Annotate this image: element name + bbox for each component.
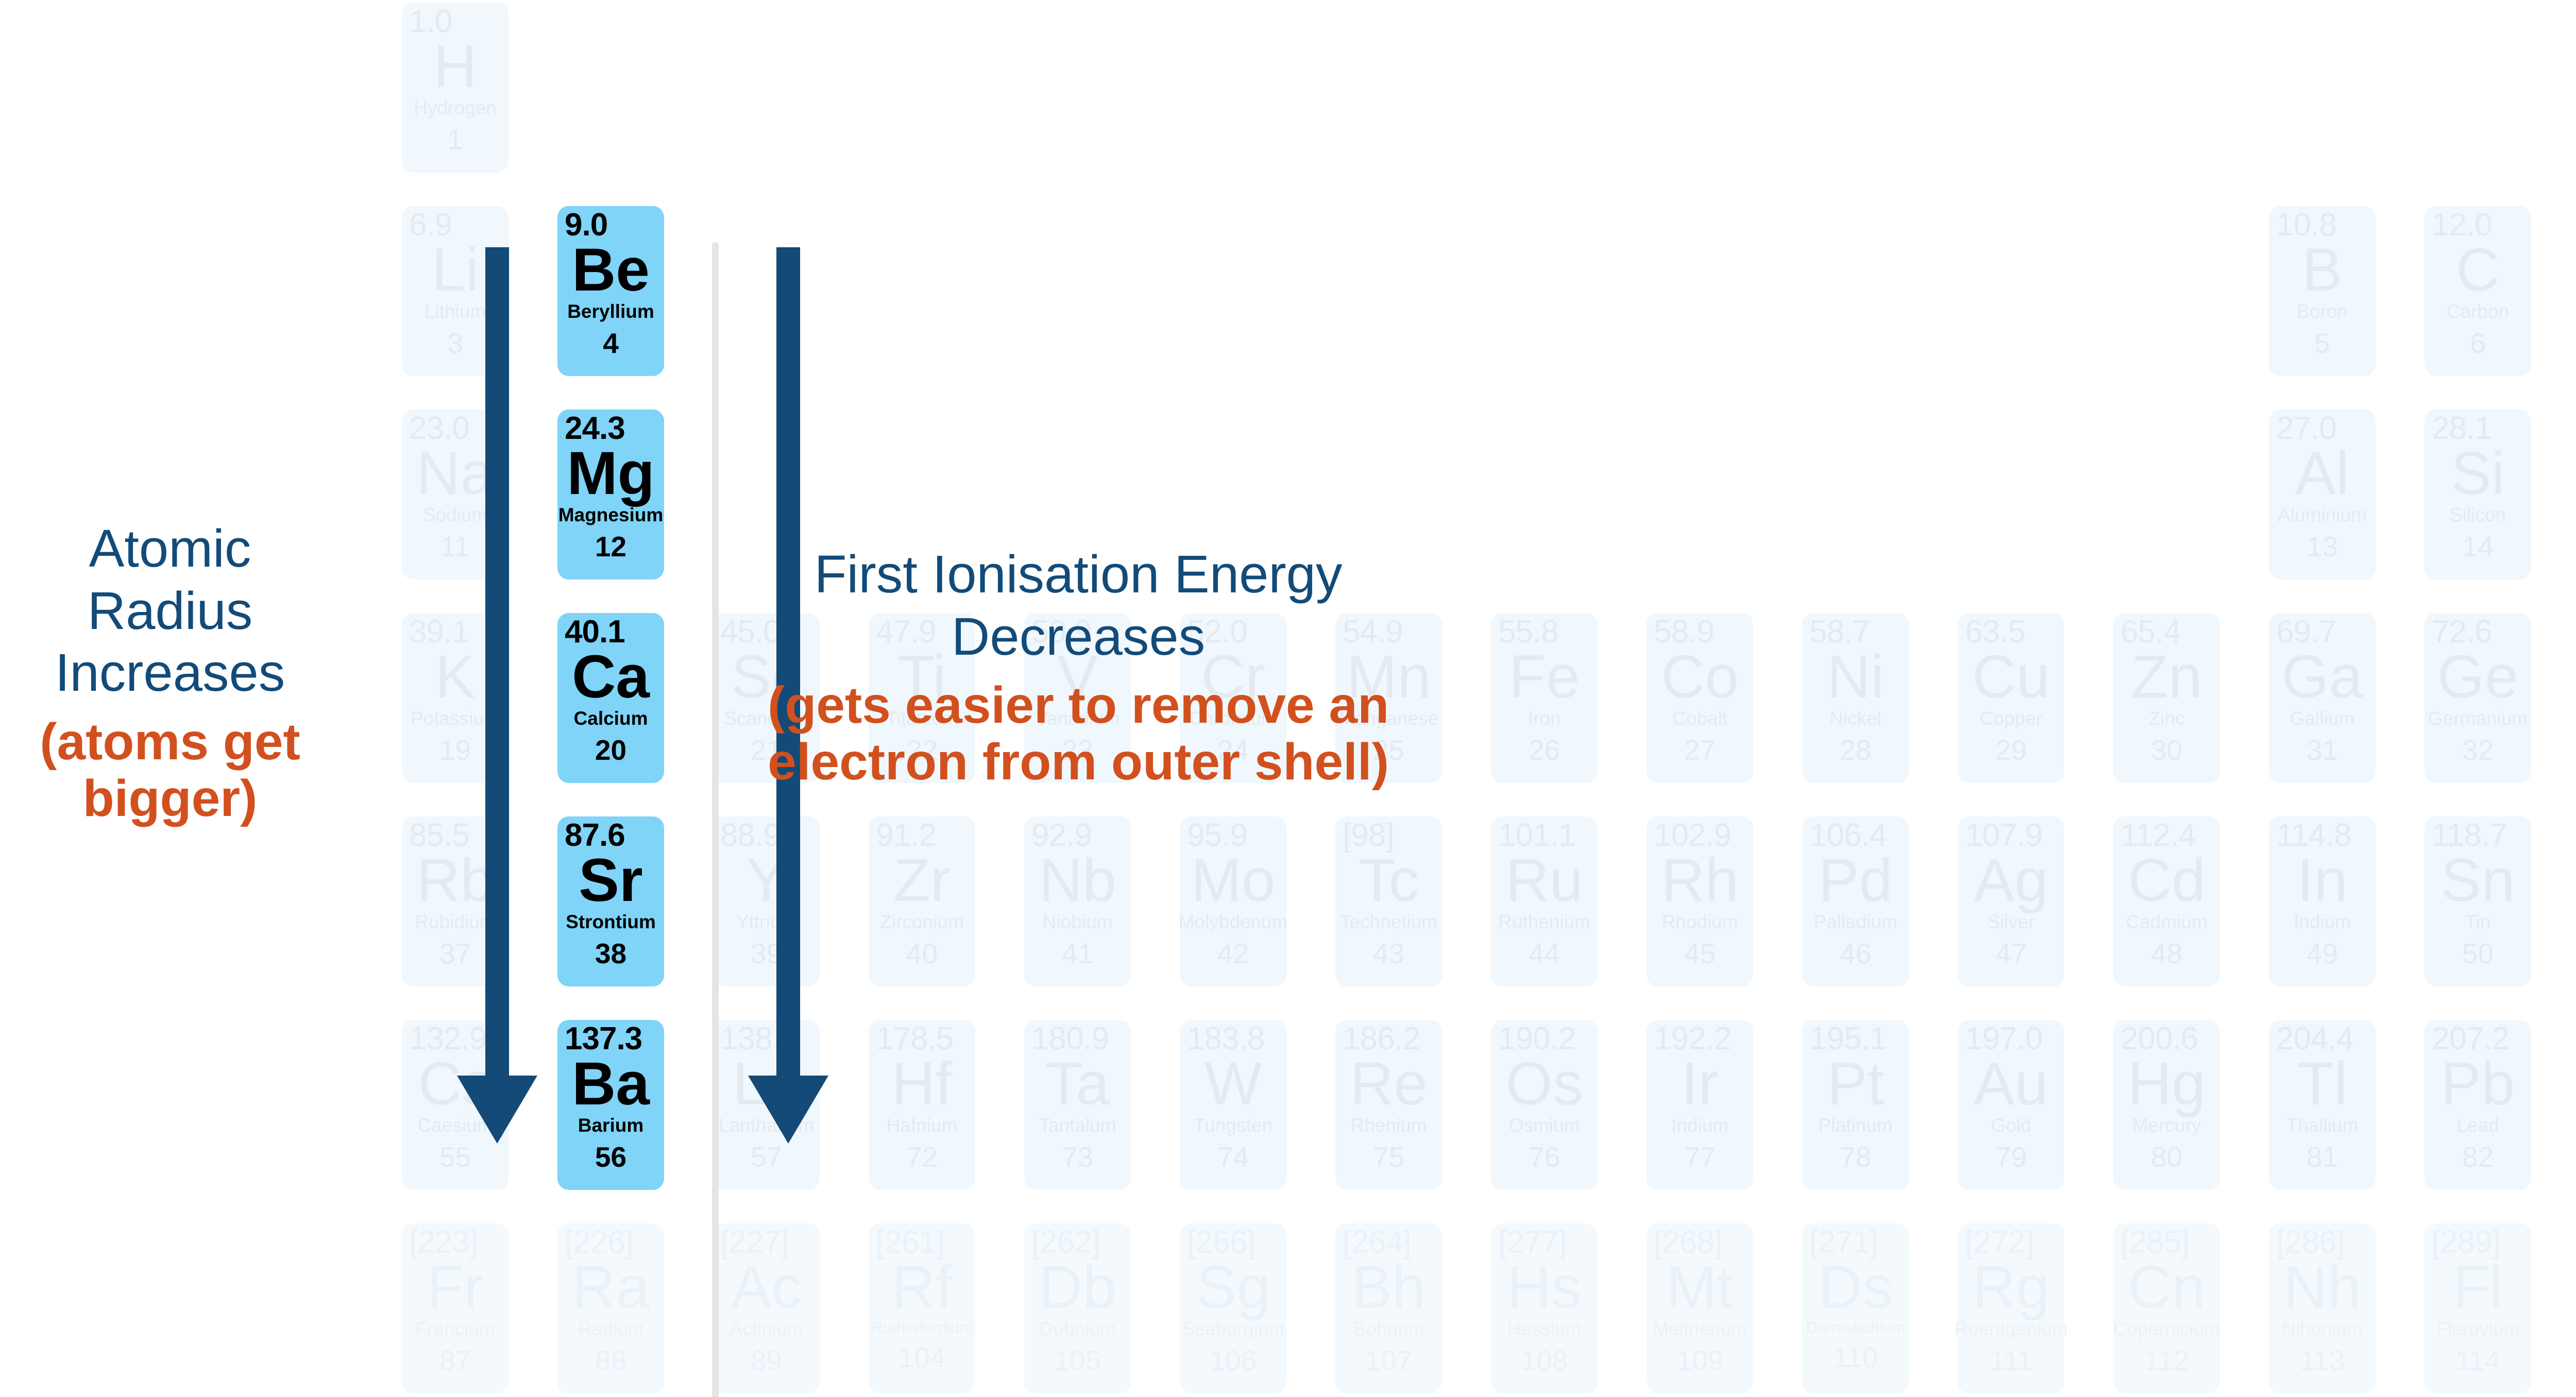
element-name: Molybdenum [1179, 912, 1288, 931]
element-cell-os[interactable]: 190.2OsOsmium76 [1491, 1020, 1598, 1190]
element-symbol: Cu [1972, 646, 2050, 708]
element-symbol: Cd [2128, 849, 2206, 911]
element-cell-zr[interactable]: 91.2ZrZirconium40 [869, 816, 975, 986]
element-atomic-number: 13 [2307, 533, 2338, 561]
element-atomic-number: 108 [1521, 1347, 1568, 1375]
ionisation-energy-subtext: (gets easier to remove an electron from … [761, 677, 1395, 790]
element-atomic-number: 72 [906, 1143, 938, 1171]
element-symbol: Al [2295, 442, 2349, 504]
element-cell-ca[interactable]: 40.1CaCalcium20 [557, 613, 664, 783]
element-name: Silicon [2450, 505, 2506, 524]
element-symbol: Ba [572, 1053, 650, 1115]
element-cell-cu[interactable]: 63.5CuCopper29 [1958, 613, 2064, 783]
element-name: Gold [1991, 1116, 2031, 1135]
element-atomic-number: 56 [595, 1143, 626, 1171]
element-symbol: In [2297, 849, 2347, 911]
element-name: Francium [415, 1319, 495, 1338]
ionisation-energy-annotation: First Ionisation Energy Decreases (gets … [761, 543, 1395, 790]
element-name: Rutherfordium [871, 1319, 972, 1335]
element-symbol: Ca [572, 646, 650, 708]
element-atomic-number: 42 [1217, 940, 1249, 968]
element-cell-re[interactable]: 186.2ReRhenium75 [1335, 1020, 1442, 1190]
element-cell-tc[interactable]: [98]TcTechnetium43 [1335, 816, 1442, 986]
element-cell-ag[interactable]: 107.9AgSilver47 [1958, 816, 2064, 986]
element-cell-ga[interactable]: 69.7GaGallium31 [2269, 613, 2376, 783]
element-atomic-number: 73 [1062, 1143, 1093, 1171]
element-symbol: W [1205, 1053, 1262, 1115]
element-name: Flerovium [2436, 1319, 2519, 1338]
element-atomic-number: 112 [2144, 1347, 2190, 1375]
element-cell-b[interactable]: 10.8BBoron5 [2269, 206, 2376, 376]
element-symbol: Ge [2437, 646, 2518, 708]
arrow-head [457, 1076, 537, 1144]
element-name: Germanium [2428, 709, 2528, 728]
element-symbol: Fr [427, 1256, 484, 1318]
element-atomic-number: 82 [2462, 1143, 2494, 1171]
element-symbol: Fl [2452, 1256, 2503, 1318]
element-atomic-number: 104 [899, 1343, 946, 1372]
element-symbol: Fe [1509, 646, 1580, 708]
element-atomic-number: 44 [1529, 940, 1560, 968]
element-atomic-number: 77 [1684, 1143, 1716, 1171]
element-atomic-number: 1 [447, 126, 463, 154]
element-name: Ruthenium [1498, 912, 1590, 931]
element-symbol: Rg [1972, 1256, 2050, 1318]
element-atomic-number: 74 [1217, 1143, 1249, 1171]
element-atomic-number: 106 [1210, 1347, 1257, 1375]
element-name: Lead [2456, 1116, 2499, 1135]
element-atomic-number: 47 [1995, 940, 2027, 968]
element-symbol: Ds [1818, 1256, 1892, 1318]
element-name: Barium [578, 1116, 643, 1135]
element-atomic-number: 20 [595, 736, 626, 764]
element-atomic-number: 55 [439, 1143, 471, 1171]
element-symbol: Mo [1191, 849, 1276, 911]
element-name: Palladium [1814, 912, 1897, 931]
element-atomic-number: 43 [1373, 940, 1404, 968]
periodic-table-diagram: 1.0HHydrogen14.0HeHelium26.9LiLithium39.… [0, 0, 2576, 1397]
periodic-table-grid: 1.0HHydrogen14.0HeHelium26.9LiLithium39.… [402, 0, 2576, 1397]
element-symbol: Pd [1818, 849, 1892, 911]
element-symbol: Rh [1661, 849, 1739, 911]
element-name: Radium [578, 1319, 644, 1338]
element-atomic-number: 49 [2307, 940, 2338, 968]
element-symbol: Hg [2128, 1053, 2206, 1115]
element-symbol: Sn [2441, 849, 2515, 911]
element-name: Mercury [2132, 1116, 2201, 1135]
element-name: Magnesium [558, 505, 664, 524]
element-symbol: Ru [1505, 849, 1583, 911]
element-atomic-number: 6 [2470, 329, 2486, 357]
element-cell-sn[interactable]: 118.7SnTin50 [2425, 816, 2531, 986]
element-cell-ra[interactable]: [226]RaRadium88 [557, 1223, 664, 1393]
element-cell-hg[interactable]: 200.6HgMercury80 [2113, 1020, 2220, 1190]
element-cell-mg[interactable]: 24.3MgMagnesium12 [557, 410, 664, 580]
ionisation-energy-heading: First Ionisation Energy Decreases [761, 543, 1395, 668]
element-cell-c[interactable]: 12.0CCarbon6 [2425, 206, 2531, 376]
group-divider-line [712, 242, 719, 1397]
element-cell-rf[interactable]: [261]RfRutherfordium104 [869, 1223, 975, 1393]
element-cell-mt[interactable]: [268]MtMeitnerium109 [1647, 1223, 1753, 1393]
element-cell-ds[interactable]: [271]DsDarmstadtium110 [1802, 1223, 1909, 1393]
element-atomic-number: 29 [1995, 736, 2027, 764]
element-cell-pb[interactable]: 207.2PbLead82 [2425, 1020, 2531, 1190]
element-name: Copper [1980, 709, 2042, 728]
element-symbol: C [2456, 239, 2500, 301]
element-cell-rh[interactable]: 102.9RhRhodium45 [1647, 816, 1753, 986]
element-symbol: Rf [892, 1256, 953, 1318]
element-symbol: Cn [2128, 1256, 2206, 1318]
element-cell-ba[interactable]: 137.3BaBarium56 [557, 1020, 664, 1190]
element-atomic-number: 110 [1833, 1343, 1878, 1372]
element-cell-bh[interactable]: [264]BhBohrium107 [1335, 1223, 1442, 1393]
element-symbol: Ta [1045, 1053, 1110, 1115]
element-symbol: Sr [579, 849, 643, 911]
element-atomic-number: 4 [603, 329, 619, 357]
element-symbol: Hf [892, 1053, 953, 1115]
element-symbol: Ra [572, 1256, 650, 1318]
element-name: Silver [1987, 912, 2035, 931]
element-name: Thallium [2286, 1116, 2359, 1135]
element-cell-sr[interactable]: 87.6SrStrontium38 [557, 816, 664, 986]
element-cell-hf[interactable]: 178.5HfHafnium72 [869, 1020, 975, 1190]
element-name: Boron [2297, 302, 2348, 321]
element-symbol: Tl [2297, 1053, 2347, 1115]
element-atomic-number: 30 [2151, 736, 2182, 764]
element-atomic-number: 28 [1840, 736, 1871, 764]
element-name: Nihonium [2282, 1319, 2362, 1338]
element-name: Copernicium [2113, 1319, 2221, 1338]
element-atomic-number: 113 [2300, 1347, 2345, 1375]
element-symbol: Ga [2282, 646, 2363, 708]
element-name: Carbon [2447, 302, 2509, 321]
element-atomic-number: 88 [595, 1347, 626, 1375]
element-name: Cadmium [2126, 912, 2207, 931]
element-cell-zn[interactable]: 65.4ZnZinc30 [2113, 613, 2220, 783]
element-cell-nh[interactable]: [286]NhNihonium113 [2269, 1223, 2376, 1393]
atomic-radius-heading: Atomic Radius Increases [0, 518, 340, 704]
element-atomic-number: 107 [1365, 1347, 1413, 1375]
element-symbol: Au [1974, 1053, 2048, 1115]
element-cell-rg[interactable]: [272]RgRoentgenium111 [1958, 1223, 2064, 1393]
element-atomic-number: 87 [439, 1347, 471, 1375]
element-cell-h[interactable]: 1.0HHydrogen1 [402, 3, 509, 173]
element-name: Technetium [1340, 912, 1437, 931]
element-cell-fl[interactable]: [289]FlFlerovium114 [2425, 1223, 2531, 1393]
element-cell-w[interactable]: 183.8WTungsten74 [1180, 1020, 1286, 1190]
element-symbol: Pt [1827, 1053, 1885, 1115]
element-cell-cd[interactable]: 112.4CdCadmium48 [2113, 816, 2220, 986]
element-symbol: Ni [1827, 646, 1884, 708]
element-symbol: Bh [1351, 1256, 1426, 1318]
element-symbol: Si [2451, 442, 2505, 504]
atomic-radius-subtext: (atoms get bigger) [0, 713, 340, 827]
element-name: Zirconium [880, 912, 963, 931]
element-name: Cobalt [1672, 709, 1727, 728]
element-atomic-number: 12 [595, 533, 626, 561]
element-atomic-number: 79 [1995, 1143, 2027, 1171]
element-cell-au[interactable]: 197.0AuGold79 [1958, 1020, 2064, 1190]
element-symbol: Db [1039, 1256, 1116, 1318]
element-cell-mo[interactable]: 95.9MoMolybdenum42 [1180, 816, 1286, 986]
element-atomic-number: 81 [2307, 1143, 2338, 1171]
element-atomic-number: 41 [1062, 940, 1093, 968]
element-name: Bohrium [1353, 1319, 1425, 1338]
element-symbol: B [2302, 239, 2343, 301]
element-cell-ni[interactable]: 58.7NiNickel28 [1802, 613, 1909, 783]
element-symbol: Sg [1196, 1256, 1270, 1318]
atomic-radius-arrow [456, 247, 538, 1144]
element-symbol: Zn [2131, 646, 2202, 708]
element-atomic-number: 46 [1840, 940, 1871, 968]
element-cell-al[interactable]: 27.0AlAluminium13 [2269, 410, 2376, 580]
element-name: Osmium [1509, 1116, 1580, 1135]
element-cell-ru[interactable]: 101.1RuRuthenium44 [1491, 816, 1598, 986]
element-symbol: Ir [1681, 1053, 1718, 1115]
element-cell-co[interactable]: 58.9CoCobalt27 [1647, 613, 1753, 783]
element-name: Iron [1528, 709, 1561, 728]
element-name: Rhenium [1350, 1116, 1427, 1135]
element-name: Tin [2465, 912, 2490, 931]
element-cell-pt[interactable]: 195.1PtPlatinum78 [1802, 1020, 1909, 1190]
element-atomic-number: 76 [1529, 1143, 1560, 1171]
element-cell-ac[interactable]: [227]AcActinium89 [713, 1223, 820, 1393]
element-symbol: Os [1505, 1053, 1583, 1115]
element-symbol: Co [1661, 646, 1739, 708]
element-atomic-number: 40 [906, 940, 938, 968]
element-cell-cn[interactable]: [285]CnCopernicium112 [2113, 1223, 2220, 1393]
element-atomic-number: 78 [1840, 1143, 1871, 1171]
arrow-shaft [485, 247, 509, 1076]
element-symbol: Mg [567, 442, 654, 504]
element-cell-si[interactable]: 28.1SiSilicon14 [2425, 410, 2531, 580]
element-name: Darmstadtium [1806, 1319, 1905, 1335]
element-cell-in[interactable]: 114.8InIndium49 [2269, 816, 2376, 986]
element-atomic-number: 14 [2462, 533, 2494, 561]
element-name: Indium [2294, 912, 2351, 931]
element-name: Seaborgium [1182, 1319, 1285, 1338]
element-cell-sg[interactable]: [266]SgSeaborgium106 [1180, 1223, 1286, 1393]
element-symbol: Hs [1507, 1256, 1581, 1318]
element-name: Hafnium [887, 1116, 958, 1135]
element-name: Hydrogen [414, 98, 496, 117]
element-atomic-number: 105 [1054, 1347, 1101, 1375]
element-symbol: Mt [1666, 1256, 1734, 1318]
element-symbol: H [433, 36, 477, 97]
element-symbol: Nh [2283, 1256, 2361, 1318]
element-symbol: Be [572, 239, 650, 301]
element-symbol: Pb [2441, 1053, 2515, 1115]
element-name: Meitnerium [1653, 1319, 1747, 1338]
element-atomic-number: 89 [751, 1347, 782, 1375]
element-cell-tl[interactable]: 204.4TlThallium81 [2269, 1020, 2376, 1190]
element-atomic-number: 57 [751, 1143, 782, 1171]
element-atomic-number: 27 [1684, 736, 1716, 764]
element-symbol: Re [1350, 1053, 1428, 1115]
element-symbol: Nb [1039, 849, 1116, 911]
element-name: Beryllium [567, 302, 654, 321]
element-name: Gallium [2290, 709, 2354, 728]
element-atomic-number: 26 [1529, 736, 1560, 764]
element-name: Iridium [1671, 1116, 1728, 1135]
element-symbol: Ag [1974, 849, 2048, 911]
element-atomic-number: 38 [595, 940, 626, 968]
atomic-radius-annotation: Atomic Radius Increases (atoms get bigge… [0, 518, 340, 827]
element-name: Rhodium [1662, 912, 1738, 931]
element-cell-ir[interactable]: 192.2IrIridium77 [1647, 1020, 1753, 1190]
element-cell-nb[interactable]: 92.9NbNiobium41 [1024, 816, 1131, 986]
arrow-head [748, 1076, 828, 1144]
element-name: Tantalum [1039, 1116, 1116, 1135]
element-cell-ta[interactable]: 180.9TaTantalum73 [1024, 1020, 1131, 1190]
element-atomic-number: 75 [1373, 1143, 1404, 1171]
element-atomic-number: 114 [2455, 1347, 2501, 1375]
element-atomic-number: 80 [2151, 1143, 2182, 1171]
element-symbol: Zr [893, 849, 951, 911]
element-name: Niobium [1043, 912, 1113, 931]
element-name: Aluminium [2278, 505, 2367, 524]
element-name: Dubnium [1039, 1319, 1115, 1338]
element-name: Platinum [1819, 1116, 1893, 1135]
element-atomic-number: 5 [2314, 329, 2330, 357]
element-atomic-number: 32 [2462, 736, 2494, 764]
element-cell-hs[interactable]: [277]HsHassium108 [1491, 1223, 1598, 1393]
element-atomic-number: 45 [1684, 940, 1716, 968]
element-cell-db[interactable]: [262]DbDubnium105 [1024, 1223, 1131, 1393]
element-name: Strontium [566, 912, 656, 931]
element-cell-fr[interactable]: [223]FrFrancium87 [402, 1223, 509, 1393]
element-name: Nickel [1829, 709, 1882, 728]
element-atomic-number: 48 [2151, 940, 2182, 968]
element-atomic-number: 50 [2462, 940, 2494, 968]
element-symbol: Ac [731, 1256, 802, 1318]
element-cell-fe[interactable]: 55.8FeIron26 [1491, 613, 1598, 783]
element-cell-be[interactable]: 9.0BeBeryllium4 [557, 206, 664, 376]
element-name: Calcium [574, 709, 648, 728]
element-name: Tungsten [1194, 1116, 1273, 1135]
element-atomic-number: 31 [2307, 736, 2338, 764]
element-cell-ge[interactable]: 72.6GeGermanium32 [2425, 613, 2531, 783]
element-name: Hassium [1507, 1319, 1582, 1338]
element-cell-pd[interactable]: 106.4PdPalladium46 [1802, 816, 1909, 986]
element-name: Actinium [730, 1319, 803, 1338]
element-name: Roentgenium [1954, 1319, 2067, 1338]
element-name: Zinc [2149, 709, 2185, 728]
element-symbol: Tc [1359, 849, 1419, 911]
element-atomic-number: 111 [1990, 1347, 2033, 1375]
element-atomic-number: 109 [1676, 1347, 1724, 1375]
